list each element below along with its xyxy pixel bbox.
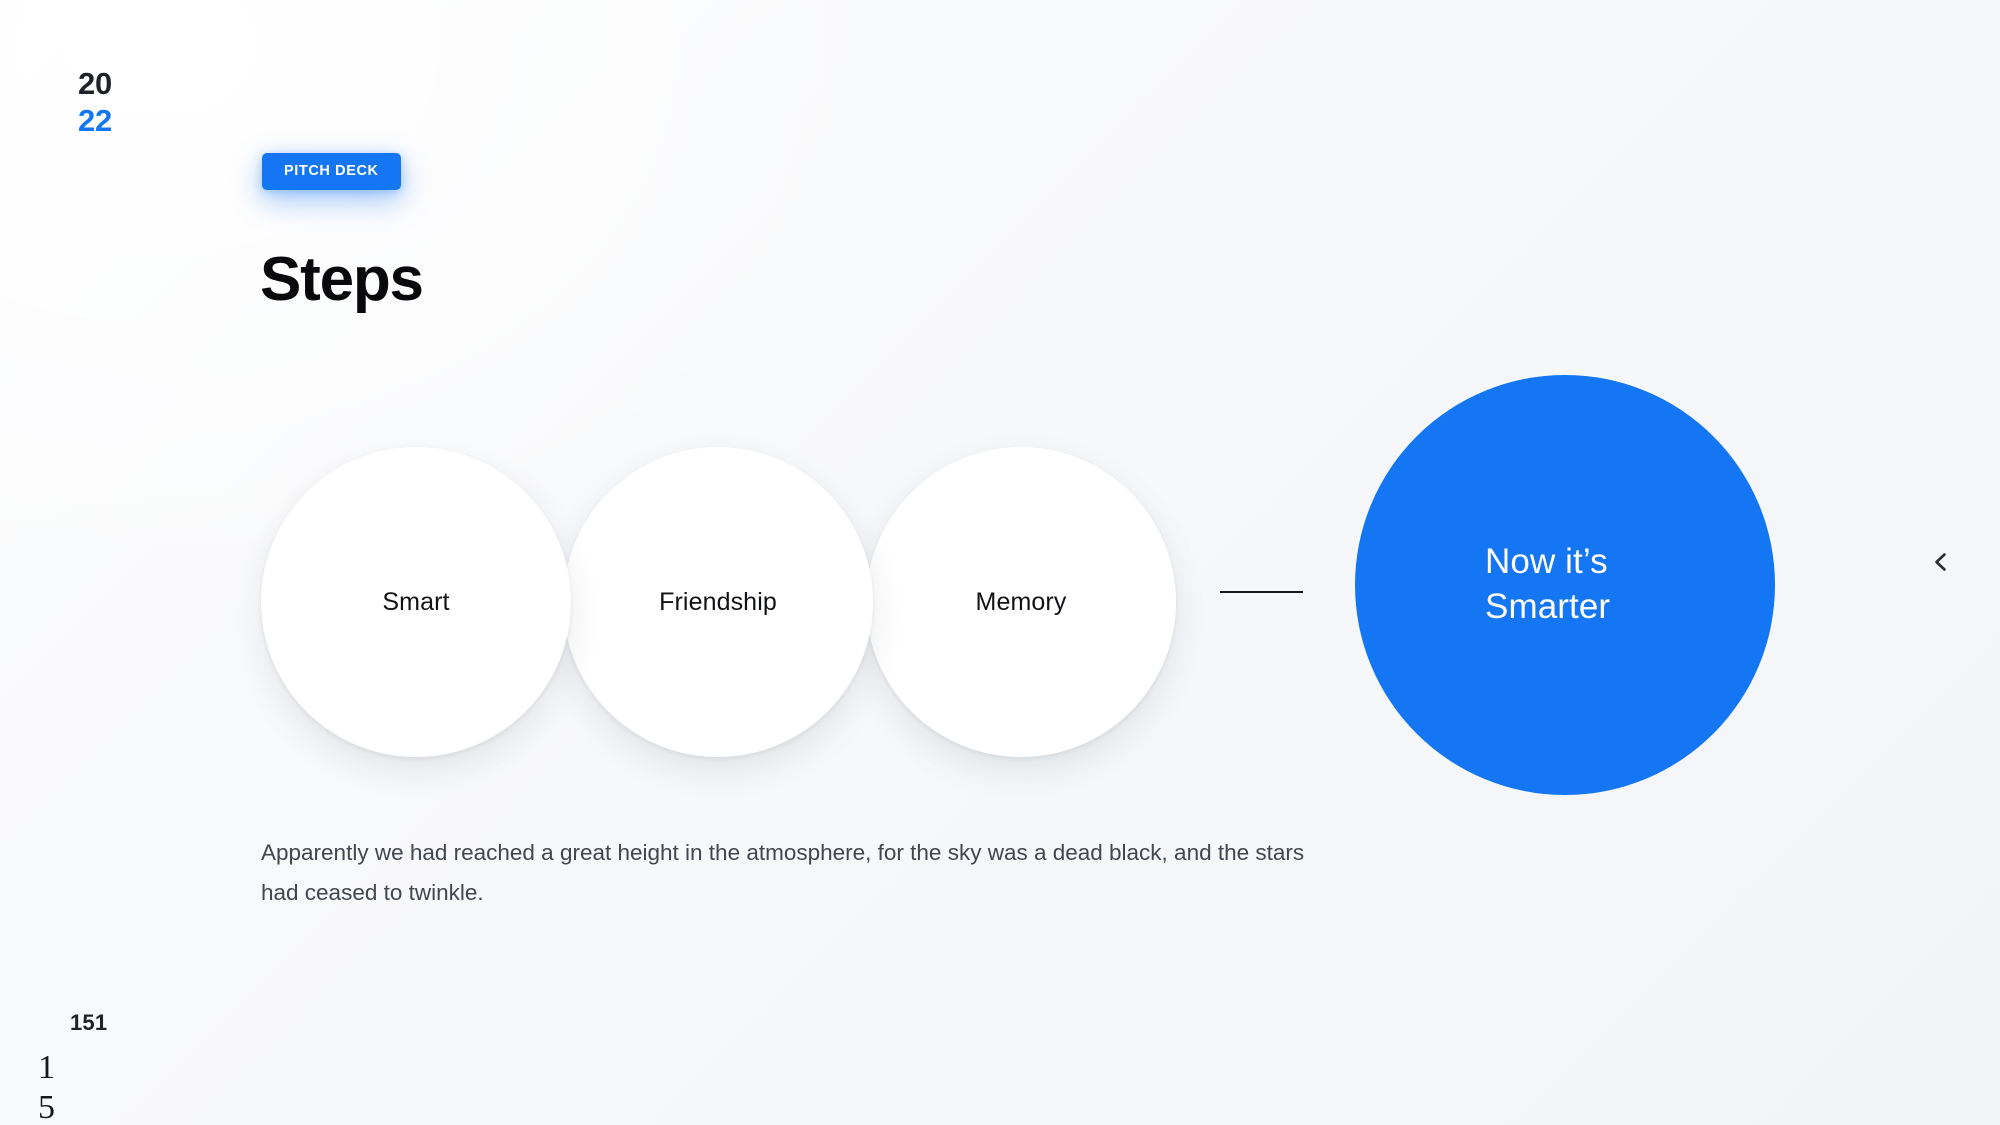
- highlight-label: Now it’s Smarter: [1485, 540, 1645, 630]
- step-label: Friendship: [659, 590, 777, 615]
- page-title: Steps: [260, 249, 423, 311]
- year-bottom: 22: [78, 103, 112, 140]
- step-circle-memory[interactable]: Memory: [866, 447, 1176, 757]
- prev-slide-button[interactable]: [1919, 540, 1963, 584]
- slide-canvas: 20 22 PITCH DECK Steps Smart Friendship …: [0, 0, 2000, 1125]
- year-top: 20: [78, 66, 112, 103]
- pitch-deck-badge[interactable]: PITCH DECK: [262, 153, 401, 190]
- body-paragraph: Apparently we had reached a great height…: [261, 833, 1321, 912]
- page-digit-second: 5: [38, 1088, 55, 1125]
- connector-line: [1220, 591, 1303, 593]
- step-circle-smart[interactable]: Smart: [261, 447, 571, 757]
- page-digit-first: 1: [38, 1048, 55, 1088]
- highlight-circle[interactable]: Now it’s Smarter: [1355, 375, 1775, 795]
- step-label: Memory: [976, 590, 1067, 615]
- year-marker: 20 22: [78, 66, 112, 139]
- step-circle-friendship[interactable]: Friendship: [563, 447, 873, 757]
- page-digits: 1 5: [38, 1048, 55, 1125]
- slide-count: 151: [70, 1010, 107, 1036]
- step-label: Smart: [382, 590, 449, 615]
- chevron-left-icon: [1928, 549, 1954, 575]
